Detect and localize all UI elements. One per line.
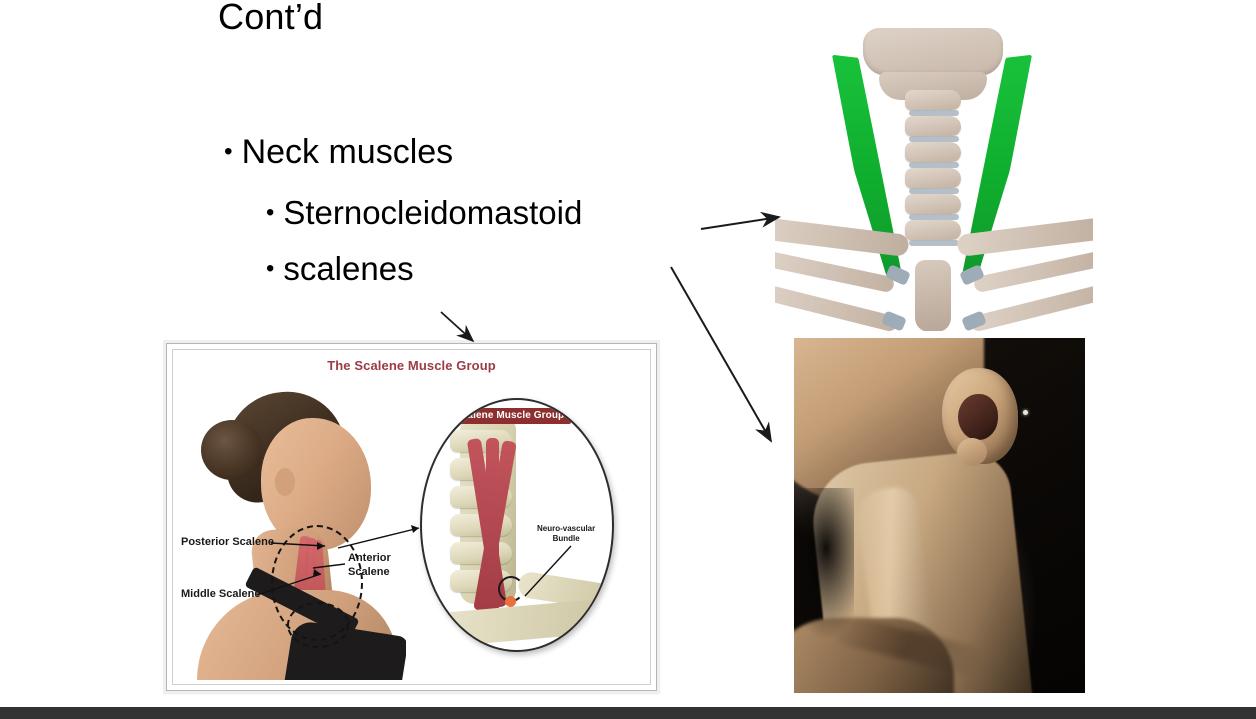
cervical-vertebra-shape (905, 168, 961, 188)
ear-shape (275, 468, 295, 496)
arrow-to-scalene-figure (441, 312, 473, 341)
bullet-neck-muscles: •Neck muscles (224, 133, 453, 172)
posterior-scalene-label: Posterior Scalene (181, 536, 274, 550)
scalene-muscle-group-figure: The Scalene Muscle Group (166, 343, 657, 691)
bullet-scalenes: •scalenes (266, 250, 414, 288)
bullet-text: scalenes (283, 250, 413, 287)
earlobe-shape (957, 438, 987, 466)
page-title: Cont’d (218, 0, 323, 38)
dashed-highlight-ellipse-small (287, 602, 349, 648)
ear-canal-shape (958, 394, 998, 440)
earring-stud (1023, 410, 1028, 415)
arrow-to-neck-photo (671, 267, 771, 441)
inset-title-badge: Scalene Muscle Group (448, 408, 571, 424)
cervical-vertebra-shape (905, 116, 961, 136)
arrow-to-anatomy-illustration (701, 217, 779, 229)
scalene-figure-title: The Scalene Muscle Group (173, 358, 650, 373)
bullet-marker-icon: • (224, 138, 233, 166)
woman-neck-photograph (191, 380, 406, 680)
bullet-text: Neck muscles (242, 133, 454, 171)
cervical-vertebra-shape (905, 90, 961, 110)
neurovascular-bundle-label: Neuro-vascular Bundle (537, 524, 595, 545)
hair-bun-shape (201, 420, 263, 480)
right-rib-shape (973, 251, 1093, 294)
middle-scalene-label: Middle Scalene (181, 588, 260, 602)
shadow-overlay (794, 488, 854, 638)
cervical-vertebra-shape (905, 142, 961, 162)
sternum-shape (915, 260, 951, 331)
anterior-scalene-label: Anterior Scalene (348, 552, 391, 580)
bullet-marker-icon: • (266, 255, 274, 283)
left-rib-shape (775, 251, 895, 294)
bullet-text: Sternocleidomastoid (283, 194, 582, 231)
intervertebral-disc-shape (909, 240, 959, 246)
skull-base-shape (863, 28, 1003, 76)
cervical-vertebra-shape (905, 220, 961, 240)
bullet-sternocleidomastoid: •Sternocleidomastoid (266, 194, 582, 232)
slide-footer-bar (0, 707, 1256, 719)
first-rib-shape (435, 599, 607, 648)
sternocleidomastoid-anatomy-illustration (775, 28, 1093, 331)
cervical-vertebra-shape (905, 194, 961, 214)
scalene-figure-inner-frame: The Scalene Muscle Group (172, 349, 651, 685)
bullet-marker-icon: • (266, 199, 274, 227)
neck-sternocleidomastoid-photograph (794, 338, 1085, 693)
neurovascular-bundle-dot (505, 596, 516, 607)
